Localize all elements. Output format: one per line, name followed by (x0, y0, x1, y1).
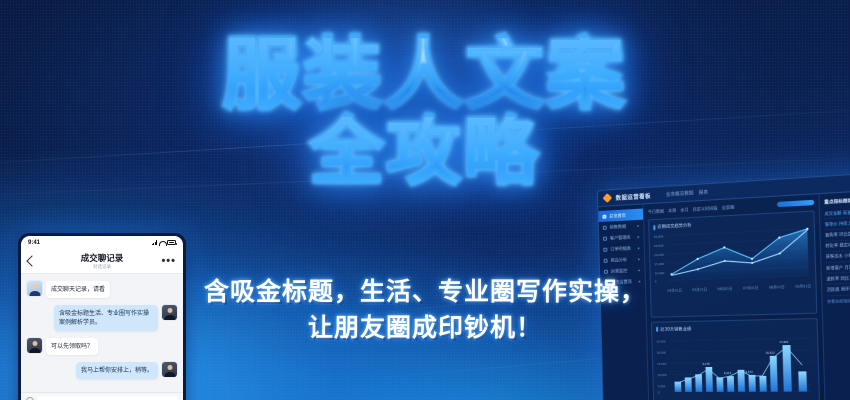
phone-screen: 9:41 成交聊记录 对话记录 ••• 成交聊天记录，请看 (21, 236, 183, 400)
avatar (162, 305, 177, 320)
x-tick: 07月01日 (743, 285, 759, 291)
grid-icon (602, 214, 606, 218)
bar-chart-svg: 25,00020,000 15,00010,000 5,0000 (656, 331, 814, 395)
x-tick: 05月01日 (692, 286, 707, 292)
chart-icon (603, 225, 607, 229)
line-chart-svg: 30,00025,000 20,00015,000 10,0000 (653, 225, 810, 288)
svg-text:15,000: 15,000 (654, 262, 664, 267)
chat-bubble: 我马上帮你安排上，稍等。 (76, 362, 158, 379)
chat-bubble: 成交聊天记录，请看 (46, 281, 110, 298)
chat-message: 可以先领取吗？ (27, 338, 177, 355)
chat-input[interactable] (38, 396, 178, 400)
x-tick: 08月01日 (769, 284, 785, 290)
list-icon (603, 247, 607, 251)
svg-text:8,215: 8,215 (724, 370, 732, 374)
status-icons (152, 240, 177, 245)
diamond-logo-icon (603, 193, 613, 203)
line-chart-plot: 30,00025,000 20,00015,000 10,0000 (653, 225, 810, 288)
right-panel-row[interactable]: 复购率 环比提升 (825, 228, 850, 242)
top-glow (235, 0, 565, 244)
right-panel-row[interactable]: 活跃度 周环比增长 (827, 283, 850, 296)
sidebar-item-label: 订单明细表 (610, 245, 635, 252)
tab-all[interactable]: 全部端 (722, 204, 735, 211)
headline-group: 服装人文案 全攻略 (0, 38, 850, 188)
phone-mockup: 9:41 成交聊记录 对话记录 ••• 成交聊天记录，请看 (18, 233, 186, 400)
right-panel-row[interactable]: 转化率 稳定向好 (825, 239, 850, 252)
chat-message: 含吸金标题生活、专业圈写作实操案例解析学员。 (27, 305, 177, 331)
date-range-pill[interactable] (777, 200, 814, 207)
chevron-right-icon: ▸ (637, 223, 639, 228)
phone-status-bar: 9:41 (21, 236, 183, 249)
dashboard-brand: 数据运营看板 (616, 191, 651, 201)
accent-bar (656, 327, 658, 332)
chevron-right-icon: ▸ (639, 279, 641, 284)
tab-custom[interactable]: 自定义时间段 (693, 205, 718, 213)
svg-text:6,532: 6,532 (745, 369, 753, 373)
chat-message: 成交聊天记录，请看 (27, 281, 177, 298)
avatar (27, 338, 42, 353)
microphone-icon[interactable] (26, 397, 34, 400)
chevron-right-icon: ▸ (638, 245, 640, 250)
svg-text:16,812: 16,812 (766, 350, 776, 355)
sidebar-item-label: 系统设置项 (611, 278, 636, 285)
svg-text:30,000: 30,000 (654, 234, 664, 239)
users-icon (603, 236, 607, 240)
svg-text:0: 0 (658, 390, 660, 394)
svg-text:17,602: 17,602 (779, 339, 789, 344)
tab-today[interactable]: 今日数据 (648, 208, 664, 215)
right-panel-title: 重点指标跟踪 (824, 196, 850, 206)
sidebar-item-label: 商品分析 (610, 256, 635, 263)
dashboard-topnav: 业务概览数据 报表 (666, 189, 708, 198)
signal-bars-icon (152, 240, 158, 245)
chevron-right-icon: ▸ (638, 256, 640, 261)
svg-text:15,000: 15,000 (657, 361, 667, 365)
chat-bubble: 可以先领取吗？ (46, 338, 98, 355)
sidebar-item-label: 销售数据 (610, 223, 635, 230)
svg-text:25,000: 25,000 (656, 339, 666, 343)
phone-nav-bar: 成交聊记录 对话记录 ••• (21, 249, 183, 274)
dashboard-sidebar: 总览首页 销售数据 ▸ 客户管理库 ▸ 订单明细表 ▸ (598, 204, 649, 400)
svg-text:0: 0 (655, 279, 657, 283)
x-tick: 04月01日 (667, 287, 682, 293)
phone-nav-center: 成交聊记录 对话记录 (21, 252, 183, 271)
chat-subtitle: 对话记录 (21, 264, 183, 270)
x-tick: 06月01日 (717, 286, 732, 292)
avatar (27, 281, 42, 296)
sidebar-item-label: 运营监控 (611, 267, 636, 274)
gear-icon (604, 280, 608, 284)
svg-text:10,000: 10,000 (657, 372, 667, 376)
dashboard-body: 总览首页 销售数据 ▸ 客户管理库 ▸ 订单明细表 ▸ (598, 190, 850, 400)
svg-text:9,178: 9,178 (702, 361, 710, 365)
tab-month[interactable]: 本月 (680, 206, 688, 213)
right-panel-more-link[interactable]: 查看全部指标 > (827, 297, 850, 304)
chat-input-bar[interactable] (21, 392, 183, 400)
headline-line-2: 全攻略 (0, 117, 850, 188)
line-chart-card: 近期成交趋势分析 (648, 210, 817, 317)
sidebar-item-label: 总览首页 (609, 211, 639, 219)
chat-thread: 成交聊天记录，请看 含吸金标题生活、专业圈写作实操案例解析学员。 可以先领取吗？… (21, 274, 183, 379)
chevron-right-icon: ▸ (637, 234, 639, 239)
sidebar-item-settings[interactable]: 系统设置项 ▸ (600, 275, 645, 288)
bar-chart-title: 近30天销售业绩 (660, 326, 691, 333)
chat-title: 成交聊记录 (21, 252, 183, 264)
wifi-icon (159, 240, 165, 245)
box-icon (604, 258, 608, 262)
right-panel-row[interactable]: 新增客户 月环比增 (826, 261, 850, 274)
bar-chart-plot: 25,00020,000 15,00010,000 5,0000 (656, 331, 814, 395)
sidebar-item-label: 客户管理库 (610, 234, 635, 241)
bar-chart-card: 近30天销售业绩 (651, 317, 820, 400)
chat-bubble: 含吸金标题生活、专业圈写作实操案例解析学员。 (54, 305, 158, 331)
chevron-right-icon: ▸ (638, 267, 640, 272)
promo-banner: 服装人文案 全攻略 含吸金标题，生活、专业圈写作实操， 让朋友圈成印钞机！ 9:… (0, 0, 850, 400)
battery-icon (167, 240, 176, 245)
svg-text:25,000: 25,000 (654, 243, 664, 248)
svg-text:20,000: 20,000 (654, 253, 664, 258)
streak-1 (0, 105, 850, 168)
right-panel-row[interactable]: 客单价 持续上升中 (825, 217, 850, 231)
right-panel-row[interactable]: 获客成本 小幅下降 (826, 250, 850, 263)
svg-text:20,000: 20,000 (657, 350, 667, 354)
status-time: 9:41 (28, 240, 40, 246)
headline-line-1: 服装人文案 (0, 38, 850, 113)
ellipsis-icon[interactable]: ••• (161, 259, 176, 263)
x-tick: 09月01日 (795, 283, 811, 289)
right-panel-row[interactable]: 退款率 同比下降 (826, 272, 850, 285)
dashboard-right-panel: 重点指标跟踪 成交金额 高速增长 客单价 持续上升中 复购率 环比提升 转化率 … (818, 190, 850, 400)
line-chart-title: 近期成交趋势分析 (657, 222, 691, 230)
topnav-item[interactable]: 报表 (699, 189, 708, 196)
dashboard-main: 今日数据 本周 本月 自定义时间段 全部端 近期成交趋势分析 (644, 194, 825, 400)
svg-text:10,000: 10,000 (655, 271, 665, 276)
topnav-item[interactable]: 业务概览数据 (666, 190, 694, 198)
tab-week[interactable]: 本周 (668, 207, 676, 214)
dashboard-mockup: 数据运营看板 业务概览数据 报表 总览首页 销售数据 ▸ (597, 172, 850, 400)
avatar (162, 362, 177, 377)
accent-bar (653, 225, 655, 230)
chat-message: 我马上帮你安排上，稍等。 (27, 362, 177, 379)
svg-text:5,000: 5,000 (658, 384, 666, 388)
monitor-icon (604, 269, 608, 273)
